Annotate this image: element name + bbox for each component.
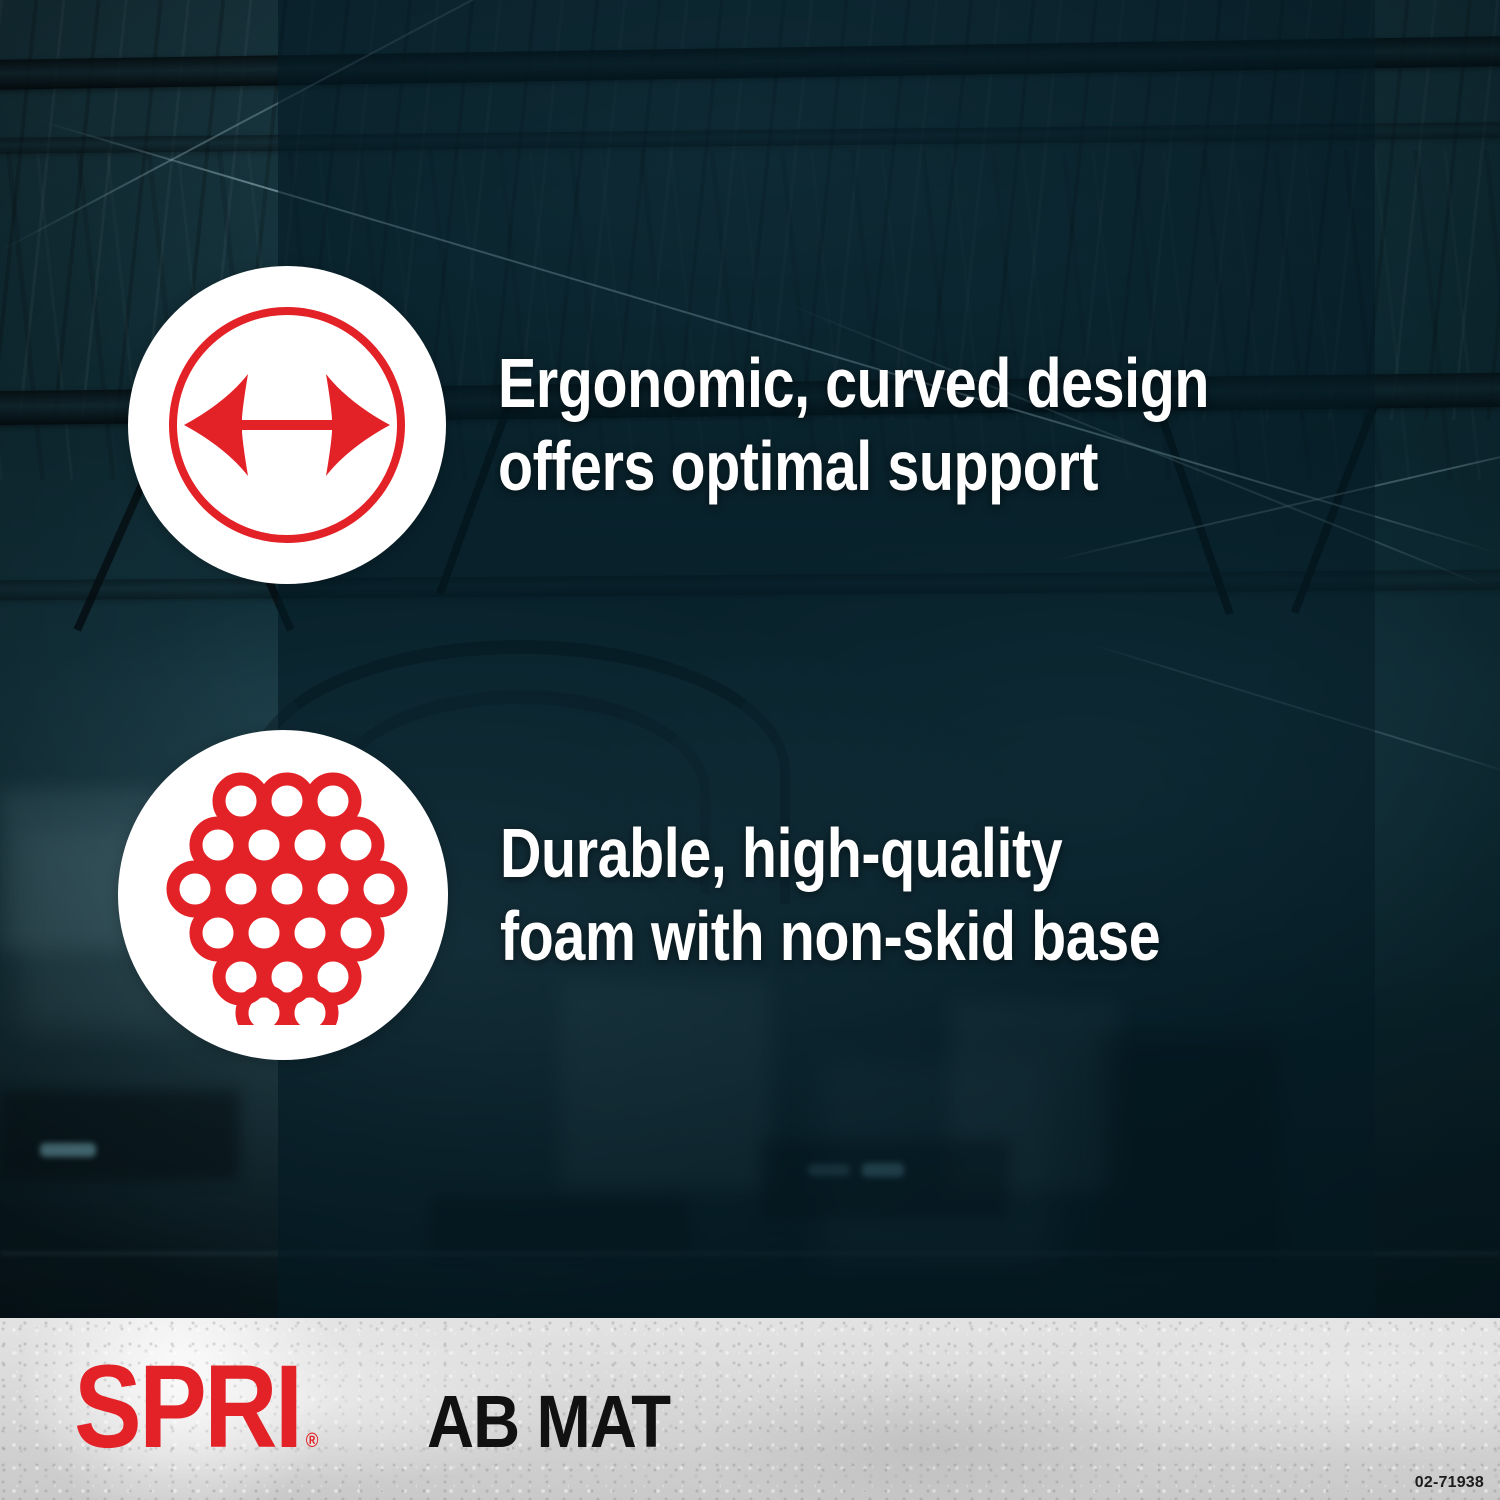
feature-line-2: offers optimal support xyxy=(498,425,1209,508)
feature-line-1: Ergonomic, curved design xyxy=(498,342,1209,425)
dark-overlay-panel xyxy=(278,0,1375,1320)
foam-cells-icon xyxy=(153,765,413,1025)
sku-code: 02-71938 xyxy=(1415,1474,1484,1492)
feature-text-foam: Durable, high-quality foam with non-skid… xyxy=(500,812,1160,977)
spri-logo-text: SPRI xyxy=(74,1341,301,1473)
feature-icon-badge xyxy=(118,730,448,1060)
product-infographic: Ergonomic, curved design offers optimal … xyxy=(0,0,1500,1500)
right-overlay-strip xyxy=(1375,0,1500,1320)
feature-text-ergonomic: Ergonomic, curved design offers optimal … xyxy=(498,342,1209,507)
feature-icon-badge xyxy=(128,266,446,584)
double-arrow-icon xyxy=(182,370,392,480)
product-name: AB MAT xyxy=(427,1385,670,1459)
registered-mark-icon: ® xyxy=(306,1430,316,1452)
footer-band: SPRI® AB MAT 02-71938 xyxy=(0,1318,1500,1500)
feature-row-ergonomic: Ergonomic, curved design offers optimal … xyxy=(128,266,1365,584)
brand-row: SPRI® AB MAT xyxy=(74,1348,703,1466)
feature-row-foam: Durable, high-quality foam with non-skid… xyxy=(118,730,1305,1060)
warehouse-background-photo xyxy=(0,0,1500,1320)
feature-line-1: Durable, high-quality xyxy=(500,812,1160,895)
feature-line-2: foam with non-skid base xyxy=(500,895,1160,978)
spri-logo: SPRI® xyxy=(74,1348,316,1466)
